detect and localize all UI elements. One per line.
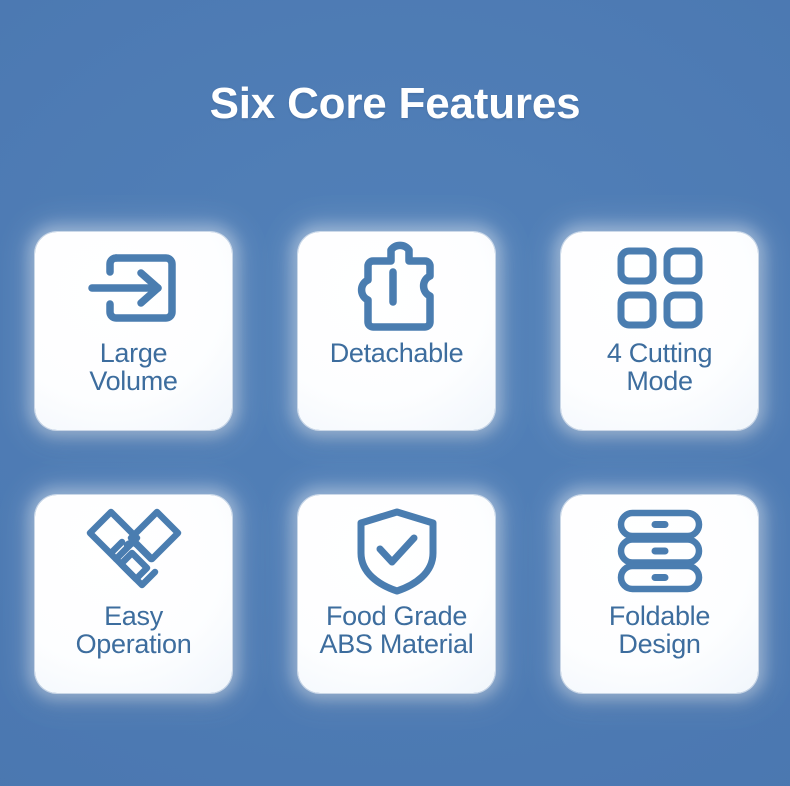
feature-card-large-volume[interactable]: Large Volume (35, 232, 232, 430)
feature-card-detachable[interactable]: Detachable (298, 232, 495, 430)
feature-card-food-grade-abs-material[interactable]: Food Grade ABS Material (298, 495, 495, 693)
feature-card-4-cutting-mode[interactable]: 4 Cutting Mode (561, 232, 758, 430)
shield-check-icon (298, 495, 495, 607)
enter-arrow-box-icon (35, 232, 232, 344)
feature-grid: Large Volume Detachable 4 (35, 232, 757, 693)
feature-label: Detachable (282, 340, 511, 368)
stacked-layers-icon (561, 495, 758, 607)
puzzle-piece-icon (298, 232, 495, 344)
handshake-icon (35, 495, 232, 607)
feature-poster: Six Core Features Large Volume (0, 0, 790, 786)
feature-label: Large Volume (19, 340, 248, 396)
feature-card-easy-operation[interactable]: Easy Operation (35, 495, 232, 693)
feature-label: 4 Cutting Mode (545, 340, 774, 396)
page-title: Six Core Features (0, 82, 790, 126)
feature-label: Food Grade ABS Material (282, 603, 511, 659)
feature-label: Easy Operation (19, 603, 248, 659)
feature-label: Foldable Design (545, 603, 774, 659)
feature-card-foldable-design[interactable]: Foldable Design (561, 495, 758, 693)
grid-four-squares-icon (561, 232, 758, 344)
